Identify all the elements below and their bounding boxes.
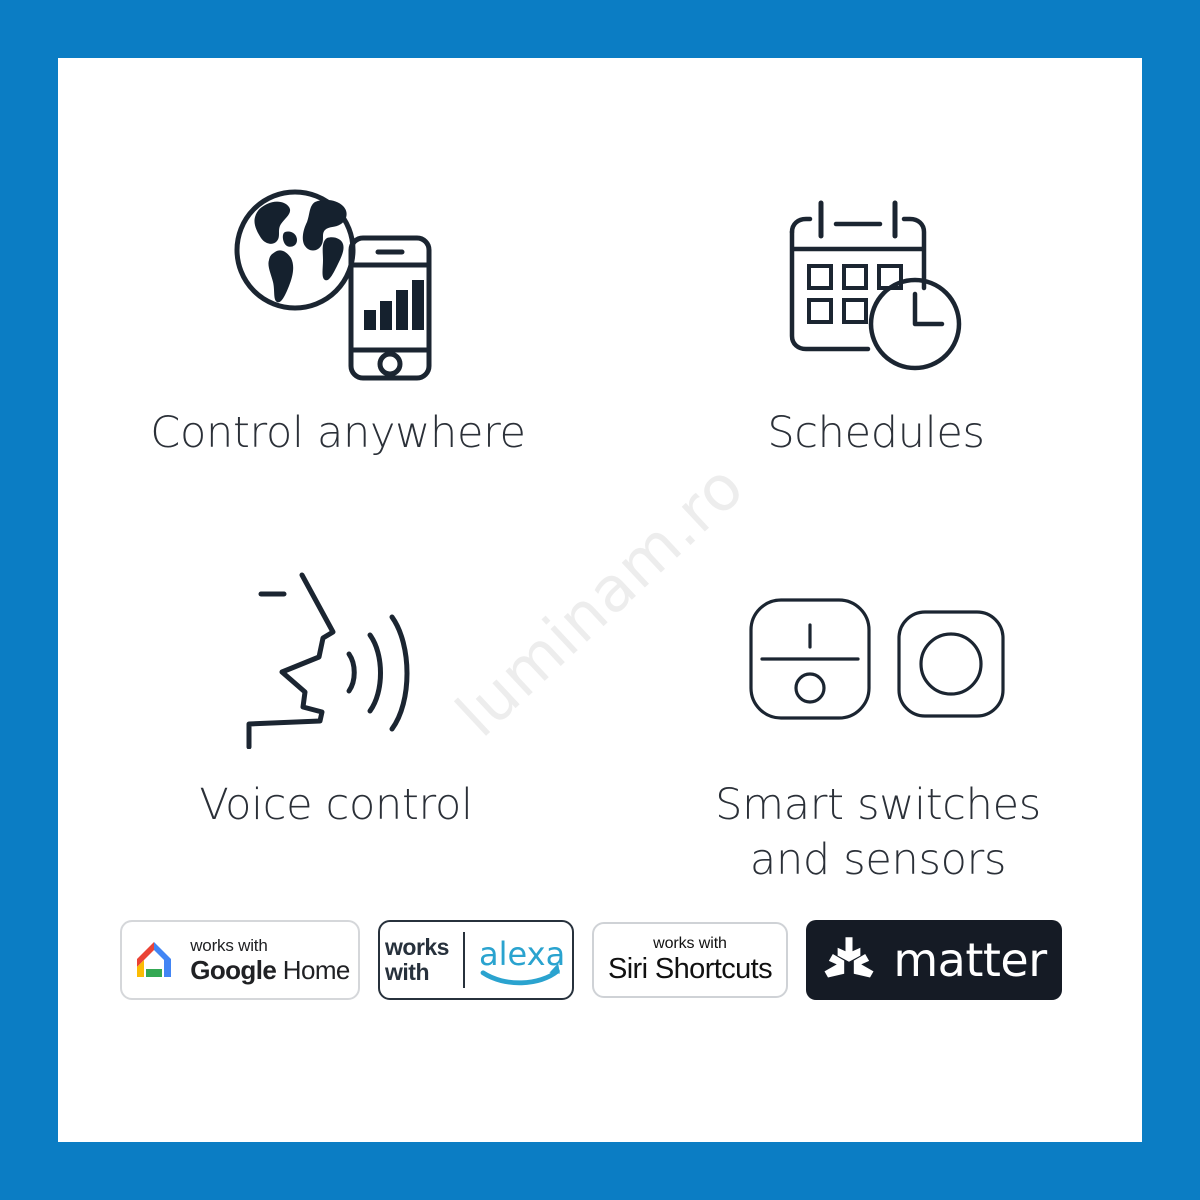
compatibility-badges: works with Google Home works with alexa bbox=[120, 920, 1090, 1000]
feature-grid: Control anywhere bbox=[58, 178, 1142, 938]
feature-schedules: Schedules bbox=[600, 178, 1142, 558]
badge-divider bbox=[463, 932, 465, 988]
feature-voice-control: Voice control bbox=[58, 558, 600, 938]
works-with-label: works with bbox=[653, 935, 727, 953]
feature-label: Smart switches and sensors bbox=[715, 778, 1041, 887]
feature-control-anywhere: Control anywhere bbox=[58, 178, 600, 558]
google-home-house-icon bbox=[130, 936, 178, 984]
matter-wordmark: matter bbox=[893, 937, 1046, 983]
feature-smart-switches: Smart switches and sensors bbox=[600, 558, 1142, 938]
switch-sensor-icon bbox=[743, 558, 1013, 760]
poster-canvas: luminam.ro bbox=[0, 0, 1200, 1200]
feature-label: Control anywhere bbox=[150, 406, 525, 461]
feature-label: Voice control bbox=[199, 778, 472, 833]
home-word: Home bbox=[276, 955, 350, 985]
alexa-badge-inner: works with alexa bbox=[385, 932, 567, 988]
feature-label: Schedules bbox=[767, 406, 984, 461]
works-with-label: works with bbox=[385, 935, 449, 985]
speaking-head-icon bbox=[236, 558, 436, 760]
badge-matter[interactable]: matter bbox=[806, 920, 1062, 1000]
globe-phone-icon bbox=[223, 178, 453, 392]
badge-google-home[interactable]: works with Google Home bbox=[120, 920, 360, 1000]
works-with-label: works with bbox=[190, 937, 350, 954]
matter-arrows-icon bbox=[821, 932, 877, 988]
badge-works-with-alexa[interactable]: works with alexa bbox=[378, 920, 574, 1000]
badge-siri-shortcuts[interactable]: works with Siri Shortcuts bbox=[592, 922, 788, 998]
siri-shortcuts-brand: Siri Shortcuts bbox=[608, 954, 772, 984]
google-home-brand: Google Home bbox=[190, 957, 350, 983]
google-word: Google bbox=[190, 955, 276, 985]
content-panel: luminam.ro bbox=[58, 58, 1142, 1142]
svg-text:alexa: alexa bbox=[479, 935, 565, 973]
alexa-smile-icon: alexa bbox=[479, 932, 567, 988]
google-home-text: works with Google Home bbox=[190, 937, 350, 983]
calendar-clock-icon bbox=[776, 178, 976, 392]
